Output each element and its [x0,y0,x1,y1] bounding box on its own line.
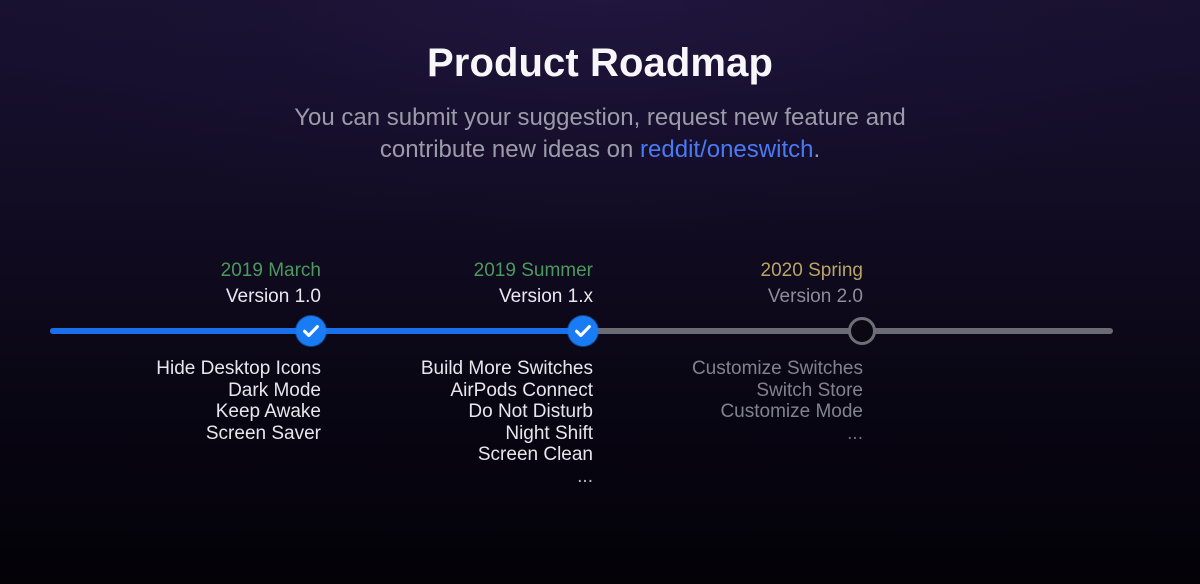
list-item: Screen Clean [293,444,593,466]
milestone-date-3: 2020 Spring [563,258,863,284]
milestone-version-1: Version 1.0 [21,284,321,310]
list-item: Hide Desktop Icons [21,358,321,380]
product-roadmap-page: Product Roadmap You can submit your sugg… [0,0,1200,584]
list-item: Customize Switches [563,358,863,380]
milestone-date-1: 2019 March [21,258,321,284]
list-item: Do Not Disturb [293,401,593,423]
list-item: Switch Store [563,380,863,402]
list-item: Night Shift [293,423,593,445]
list-item: Dark Mode [21,380,321,402]
timeline-marker-1[interactable] [296,316,326,346]
milestone-features-2: Build More Switches AirPods Connect Do N… [293,358,593,487]
milestone-version-2: Version 1.x [293,284,593,310]
milestone-header-1: 2019 March Version 1.0 [21,258,321,310]
subtitle-line-2: contribute new ideas on reddit/oneswitch… [0,134,1200,166]
timeline-marker-2[interactable] [568,316,598,346]
list-item: AirPods Connect [293,380,593,402]
header-block: Product Roadmap You can submit your sugg… [0,0,1200,166]
milestone-features-1: Hide Desktop Icons Dark Mode Keep Awake … [21,358,321,444]
list-item: Customize Mode [563,401,863,423]
page-title: Product Roadmap [0,38,1200,88]
milestone-header-2: 2019 Summer Version 1.x [293,258,593,310]
list-item: Keep Awake [21,401,321,423]
timeline-marker-3[interactable] [848,317,876,345]
features-ellipsis-3: ... [563,423,863,445]
check-icon [296,316,326,346]
list-item: Screen Saver [21,423,321,445]
milestone-header-3: 2020 Spring Version 2.0 [563,258,863,310]
timeline-area: 2019 March Version 1.0 Hide Desktop Icon… [0,240,1200,540]
milestone-features-3: Customize Switches Switch Store Customiz… [563,358,863,444]
subtitle-line-1: You can submit your suggestion, request … [294,104,906,131]
page-subtitle: You can submit your suggestion, request … [0,102,1200,166]
check-icon [568,316,598,346]
reddit-oneswitch-link[interactable]: reddit/oneswitch [640,136,813,163]
subtitle-suffix: . [813,136,820,163]
list-item: Build More Switches [293,358,593,380]
milestone-version-3: Version 2.0 [563,284,863,310]
features-ellipsis-2: ... [293,466,593,488]
subtitle-prefix: contribute new ideas on [380,136,640,163]
milestone-date-2: 2019 Summer [293,258,593,284]
